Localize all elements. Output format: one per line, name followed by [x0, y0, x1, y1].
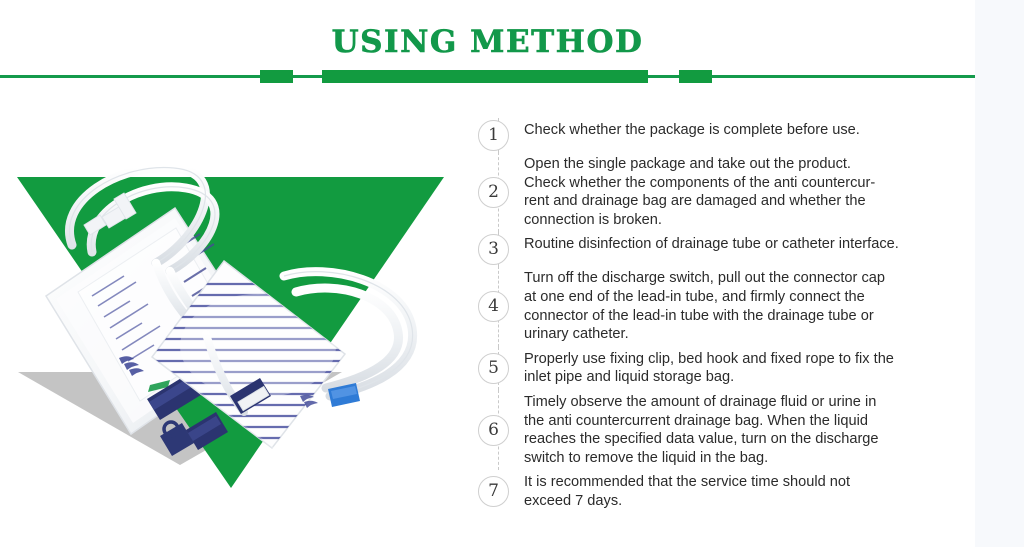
step-number-badge: 3	[478, 234, 509, 265]
step-item: 1 Check whether the package is complete …	[478, 118, 978, 152]
step-text: Routine disinfection of drainage tube or…	[524, 235, 978, 254]
using-method-page: USING METHOD	[0, 0, 1024, 547]
step-item: 3 Routine disinfection of drainage tube …	[478, 232, 978, 266]
step-body: Routine disinfection of drainage tube or…	[524, 232, 978, 266]
step-item: 6 Timely observe the amount of drainage …	[478, 390, 978, 470]
step-marker-column: 6	[478, 390, 524, 470]
step-number-badge: 4	[478, 291, 509, 322]
step-text: It is recommended that the service time …	[524, 473, 978, 510]
step-number-badge: 7	[478, 476, 509, 507]
steps-list: 1 Check whether the package is complete …	[478, 118, 978, 514]
step-number-badge: 5	[478, 353, 509, 384]
right-edge-strip	[975, 0, 1024, 547]
step-body: Open the single package and take out the…	[524, 152, 978, 232]
step-item: 2 Open the single package and take out t…	[478, 152, 978, 232]
step-number-badge: 1	[478, 120, 509, 151]
step-body: Timely observe the amount of drainage fl…	[524, 390, 978, 470]
step-body: Properly use fixing clip, bed hook and f…	[524, 347, 978, 390]
step-text: Open the single package and take out the…	[524, 155, 978, 229]
divider-block-small-right	[679, 70, 712, 83]
step-item: 7 It is recommended that the service tim…	[478, 470, 978, 513]
step-body: It is recommended that the service time …	[524, 470, 978, 513]
step-item: 5 Properly use fixing clip, bed hook and…	[478, 347, 978, 390]
step-marker-column: 4	[478, 266, 524, 346]
step-number-badge: 2	[478, 177, 509, 208]
page-title: USING METHOD	[0, 24, 975, 60]
divider-block-large-center	[322, 70, 648, 83]
step-marker-column: 5	[478, 347, 524, 390]
step-marker-column: 3	[478, 232, 524, 266]
step-text: Timely observe the amount of drainage fl…	[524, 393, 978, 467]
step-text: Properly use fixing clip, bed hook and f…	[524, 350, 978, 387]
divider-block-small-left	[260, 70, 293, 83]
step-marker-column: 7	[478, 470, 524, 513]
step-body: Turn off the discharge switch, pull out …	[524, 266, 978, 346]
step-text: Check whether the package is complete be…	[524, 121, 978, 140]
step-marker-column: 1	[478, 118, 524, 152]
product-artwork	[0, 96, 470, 547]
header-divider	[0, 70, 975, 84]
step-text: Turn off the discharge switch, pull out …	[524, 269, 978, 343]
step-body: Check whether the package is complete be…	[524, 118, 978, 152]
step-marker-column: 2	[478, 152, 524, 232]
step-number-badge: 6	[478, 415, 509, 446]
step-item: 4 Turn off the discharge switch, pull ou…	[478, 266, 978, 346]
